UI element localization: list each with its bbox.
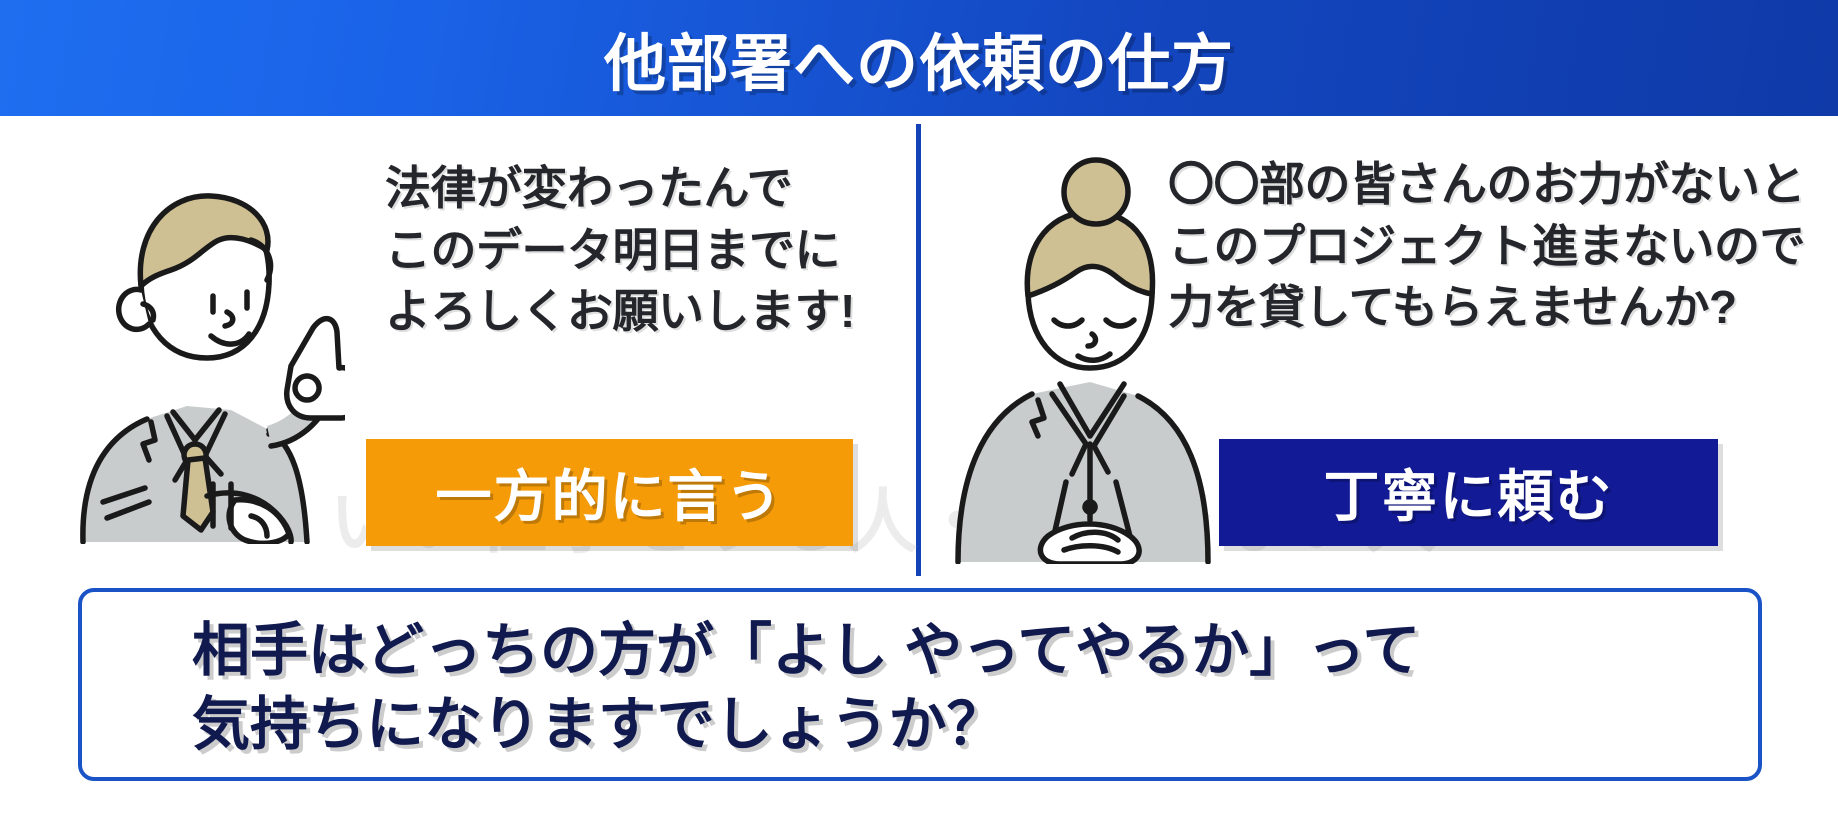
badge-one-sided: 一方的に言う xyxy=(366,439,853,546)
panel-polite-request: 〇〇部の皆さんのお力がないと このプロジェクト進まないので 力を貸してもらえませ… xyxy=(921,116,1838,576)
badge-polite-request: 丁寧に頼む xyxy=(1219,439,1718,546)
panel-one-sided: 法律が変わったんで このデータ明日までに よろしくお願いします! 一方的に言う xyxy=(0,116,916,576)
page-title: 他部署への依頼の仕方 xyxy=(604,13,1234,103)
conclusion-text: 相手はどっちの方が「よし やってやるか」って 気持ちになりますでしょうか？ xyxy=(192,614,1420,762)
header-banner: 他部署への依頼の仕方 xyxy=(0,0,1838,116)
comparison-panels: いい仕事をする人・そうでない人 xyxy=(0,116,1838,576)
speech-text-left: 法律が変わったんで このデータ明日までに よろしくお願いします! xyxy=(385,158,855,343)
badge-one-sided-label: 一方的に言う xyxy=(436,452,784,533)
pointing-businessman-illustration xyxy=(55,144,345,544)
conclusion-box: 相手はどっちの方が「よし やってやるか」って 気持ちになりますでしょうか？ xyxy=(78,588,1762,781)
speech-text-right: 〇〇部の皆さんのお力がないと このプロジェクト進まないので 力を貸してもらえませ… xyxy=(1168,154,1805,339)
badge-polite-request-label: 丁寧に頼む xyxy=(1324,452,1614,533)
